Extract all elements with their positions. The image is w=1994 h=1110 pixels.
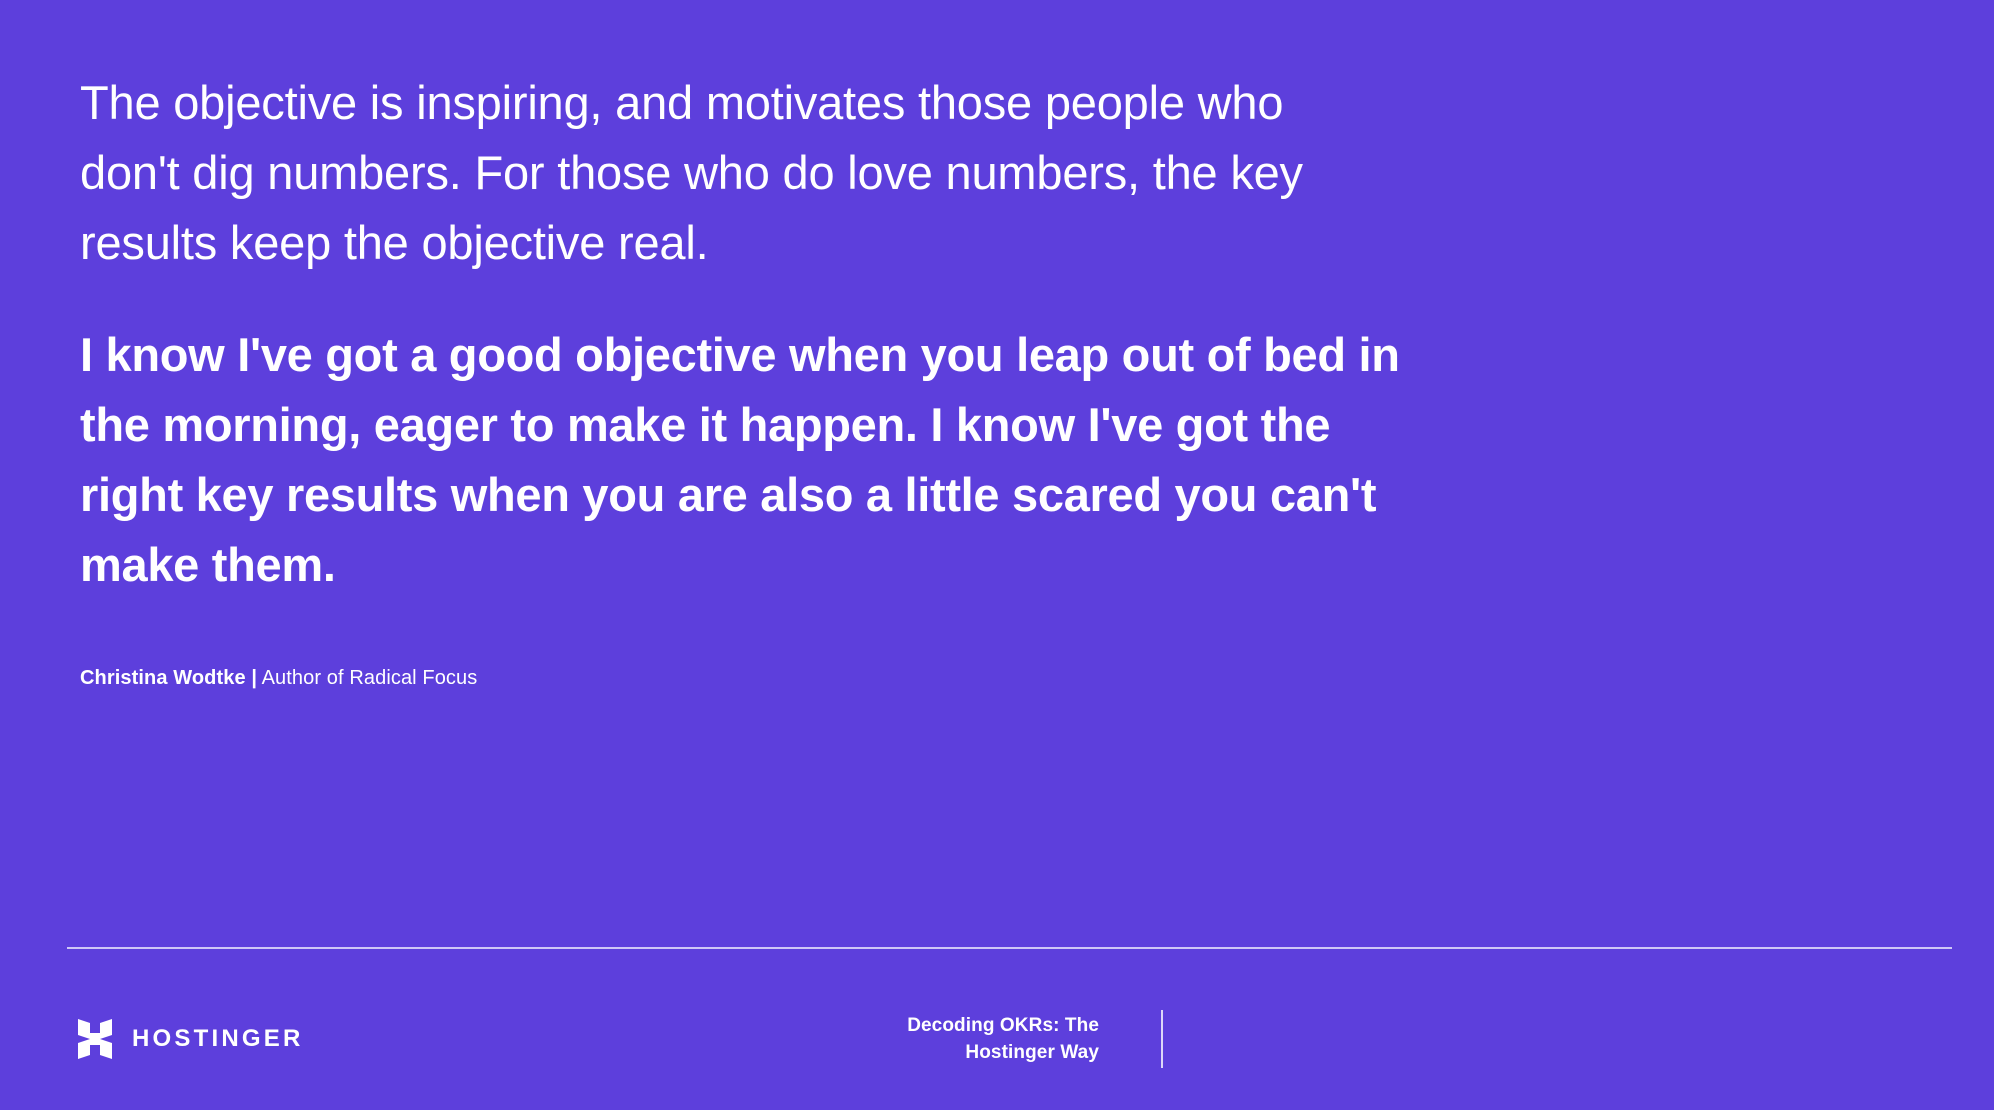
quote-intro-text: The objective is inspiring, and motivate…: [80, 68, 1370, 278]
footer-divider-rule: [67, 947, 1952, 949]
attribution-role: Author of Radical Focus: [262, 667, 478, 689]
slide-footer: HOSTINGER Decoding OKRs: The Hostinger W…: [0, 1000, 1994, 1090]
quote-content: The objective is inspiring, and motivate…: [80, 68, 1500, 692]
deck-title-vertical-divider: [1161, 1010, 1163, 1068]
slide-root: The objective is inspiring, and motivate…: [0, 0, 1994, 1110]
attribution-author: Christina Wodtke |: [80, 667, 257, 689]
deck-title-text: Decoding OKRs: The Hostinger Way: [831, 1012, 1161, 1066]
deck-title-block: Decoding OKRs: The Hostinger Way: [0, 1010, 1994, 1068]
quote-main-text: I know I've got a good objective when yo…: [80, 320, 1410, 600]
quote-attribution: Christina Wodtke | Author of Radical Foc…: [80, 664, 1500, 692]
